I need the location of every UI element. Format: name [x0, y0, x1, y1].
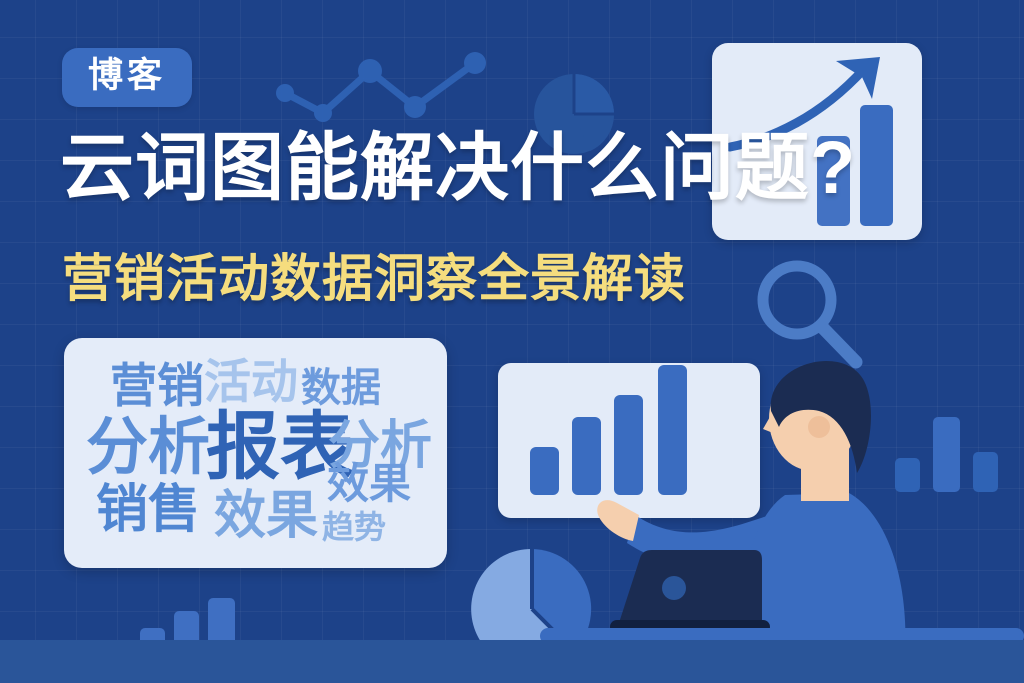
chart-bar — [572, 417, 601, 495]
chart-bar — [530, 447, 559, 495]
bar-chart-card — [498, 363, 760, 518]
word-cloud-card: 营销 活动 数据 分析 报表 分析 销售 效果 效果 趋势 — [64, 338, 447, 568]
background-line-chart-icon — [275, 45, 490, 130]
word-cloud-word: 效果 — [327, 463, 411, 505]
poster-canvas: 营销 活动 数据 分析 报表 分析 销售 效果 效果 趋势 — [0, 0, 1024, 683]
category-badge[interactable]: 博客 — [62, 48, 192, 107]
word-cloud-word: 效果 — [214, 490, 318, 542]
page-title: 云词图能解决什么问题? — [60, 131, 856, 205]
word-cloud-word: 营销 — [110, 362, 204, 409]
desk-base — [0, 640, 1024, 683]
word-cloud-word: 数据 — [301, 368, 381, 408]
chart-bar — [658, 365, 687, 495]
word-cloud-word: 分析 — [86, 417, 210, 479]
page-subtitle: 营销活动数据洞察全景解读 — [62, 253, 686, 304]
word-cloud-word: 活动 — [204, 358, 298, 405]
word-cloud-word: 趋势 — [322, 511, 386, 543]
word-cloud-word: 销售 — [96, 484, 200, 536]
chart-bar — [614, 395, 643, 495]
